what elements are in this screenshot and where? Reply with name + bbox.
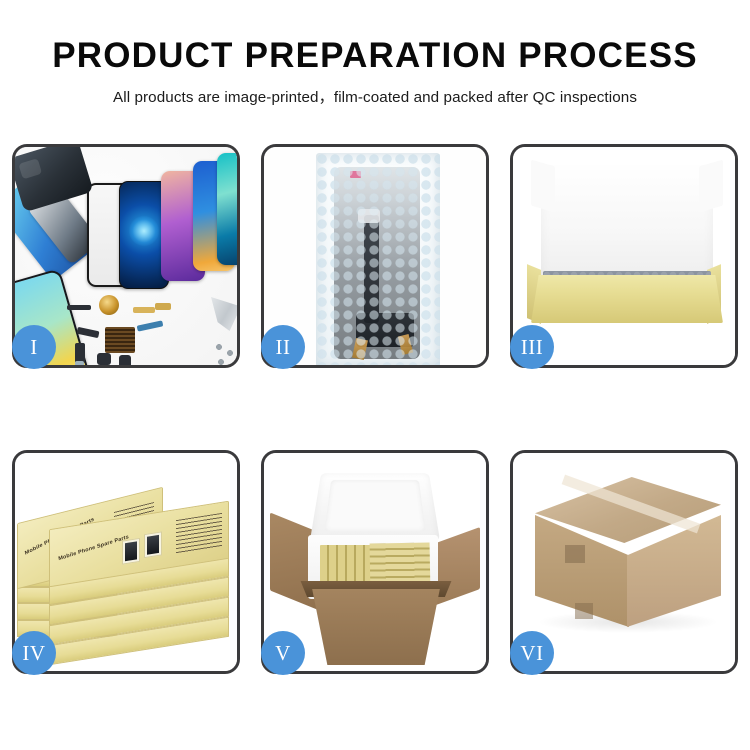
step-panel-1[interactable]: I: [12, 144, 240, 368]
step-badge-1: I: [12, 325, 56, 369]
box-window-right: [144, 531, 162, 558]
foam-lid-open: [310, 473, 440, 541]
connector-grid-part: [105, 327, 135, 353]
bubble-wrap-bag: [316, 153, 440, 365]
screen-flex-cable: [364, 215, 379, 323]
screws-group: [215, 343, 237, 365]
page-root: PRODUCT PREPARATION PROCESS All products…: [0, 0, 750, 750]
step-badge-3: III: [510, 325, 554, 369]
carton-corner-tab: [575, 603, 593, 619]
step-panel-2[interactable]: II: [261, 144, 489, 368]
speaker-module-icon: [99, 295, 119, 315]
page-title: PRODUCT PREPARATION PROCESS: [0, 36, 750, 76]
header: PRODUCT PREPARATION PROCESS All products…: [0, 0, 750, 107]
carton-corner-tab: [565, 545, 585, 563]
gold-contact-part: [133, 307, 155, 313]
pink-qc-label: [350, 171, 361, 178]
page-subtitle: All products are image-printed，film-coat…: [0, 85, 750, 107]
gold-contact-part: [155, 303, 171, 310]
yellow-tray-box: [531, 275, 723, 323]
camera-module-part: [97, 353, 111, 365]
box-window-left: [122, 538, 140, 565]
box-spec-lines: [176, 513, 222, 554]
step-panel-3[interactable]: III: [510, 144, 738, 368]
flex-cable-part: [77, 327, 100, 338]
step-badge-5: V: [261, 631, 305, 675]
teal-wallpaper-phone: [217, 153, 237, 265]
phone-back-housing: [15, 147, 94, 212]
sim-tray-part: [75, 361, 84, 365]
step-panel-4[interactable]: Mobile Phone Spare Parts Mobile Phone Sp…: [12, 450, 240, 674]
step-badge-6: VI: [510, 631, 554, 675]
step-panel-5[interactable]: V: [261, 450, 489, 674]
camera-module-part: [119, 355, 131, 365]
process-step-grid: I II: [12, 144, 738, 674]
carton-front-face: [300, 589, 452, 665]
white-foam-lid: [541, 165, 713, 287]
flex-cable-part: [137, 320, 164, 331]
step-badge-2: II: [261, 325, 305, 369]
connector-top: [358, 209, 380, 223]
step-badge-4: IV: [12, 631, 56, 675]
step-panel-6[interactable]: VI: [510, 450, 738, 674]
flex-cable-part: [75, 343, 85, 363]
tweezers-tool-icon: [211, 297, 237, 331]
flex-cable-part: [67, 305, 91, 310]
